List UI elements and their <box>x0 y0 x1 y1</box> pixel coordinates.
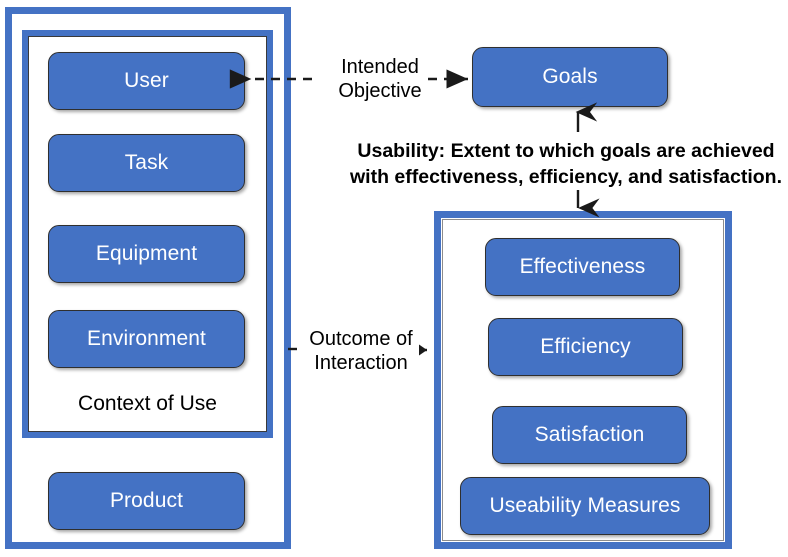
node-task[interactable]: Task <box>48 134 245 192</box>
context-of-use-label: Context of Use <box>28 392 267 417</box>
node-equipment[interactable]: Equipment <box>48 225 245 283</box>
node-satisfaction[interactable]: Satisfaction <box>492 406 687 464</box>
node-useability-measures[interactable]: Useability Measures <box>460 477 710 535</box>
diagram-canvas: User Task Equipment Environment Context … <box>0 0 788 557</box>
node-goals[interactable]: Goals <box>472 47 668 107</box>
node-user[interactable]: User <box>48 52 245 110</box>
node-environment[interactable]: Environment <box>48 310 245 368</box>
outcome-of-interaction-label: Outcome of Interaction <box>296 328 426 375</box>
node-efficiency[interactable]: Efficiency <box>488 318 683 376</box>
usability-definition-label: Usability: Extent to which goals are ach… <box>344 138 788 191</box>
node-product[interactable]: Product <box>48 472 245 530</box>
intended-objective-label: Intended Objective <box>318 56 442 103</box>
node-effectiveness[interactable]: Effectiveness <box>485 238 680 296</box>
